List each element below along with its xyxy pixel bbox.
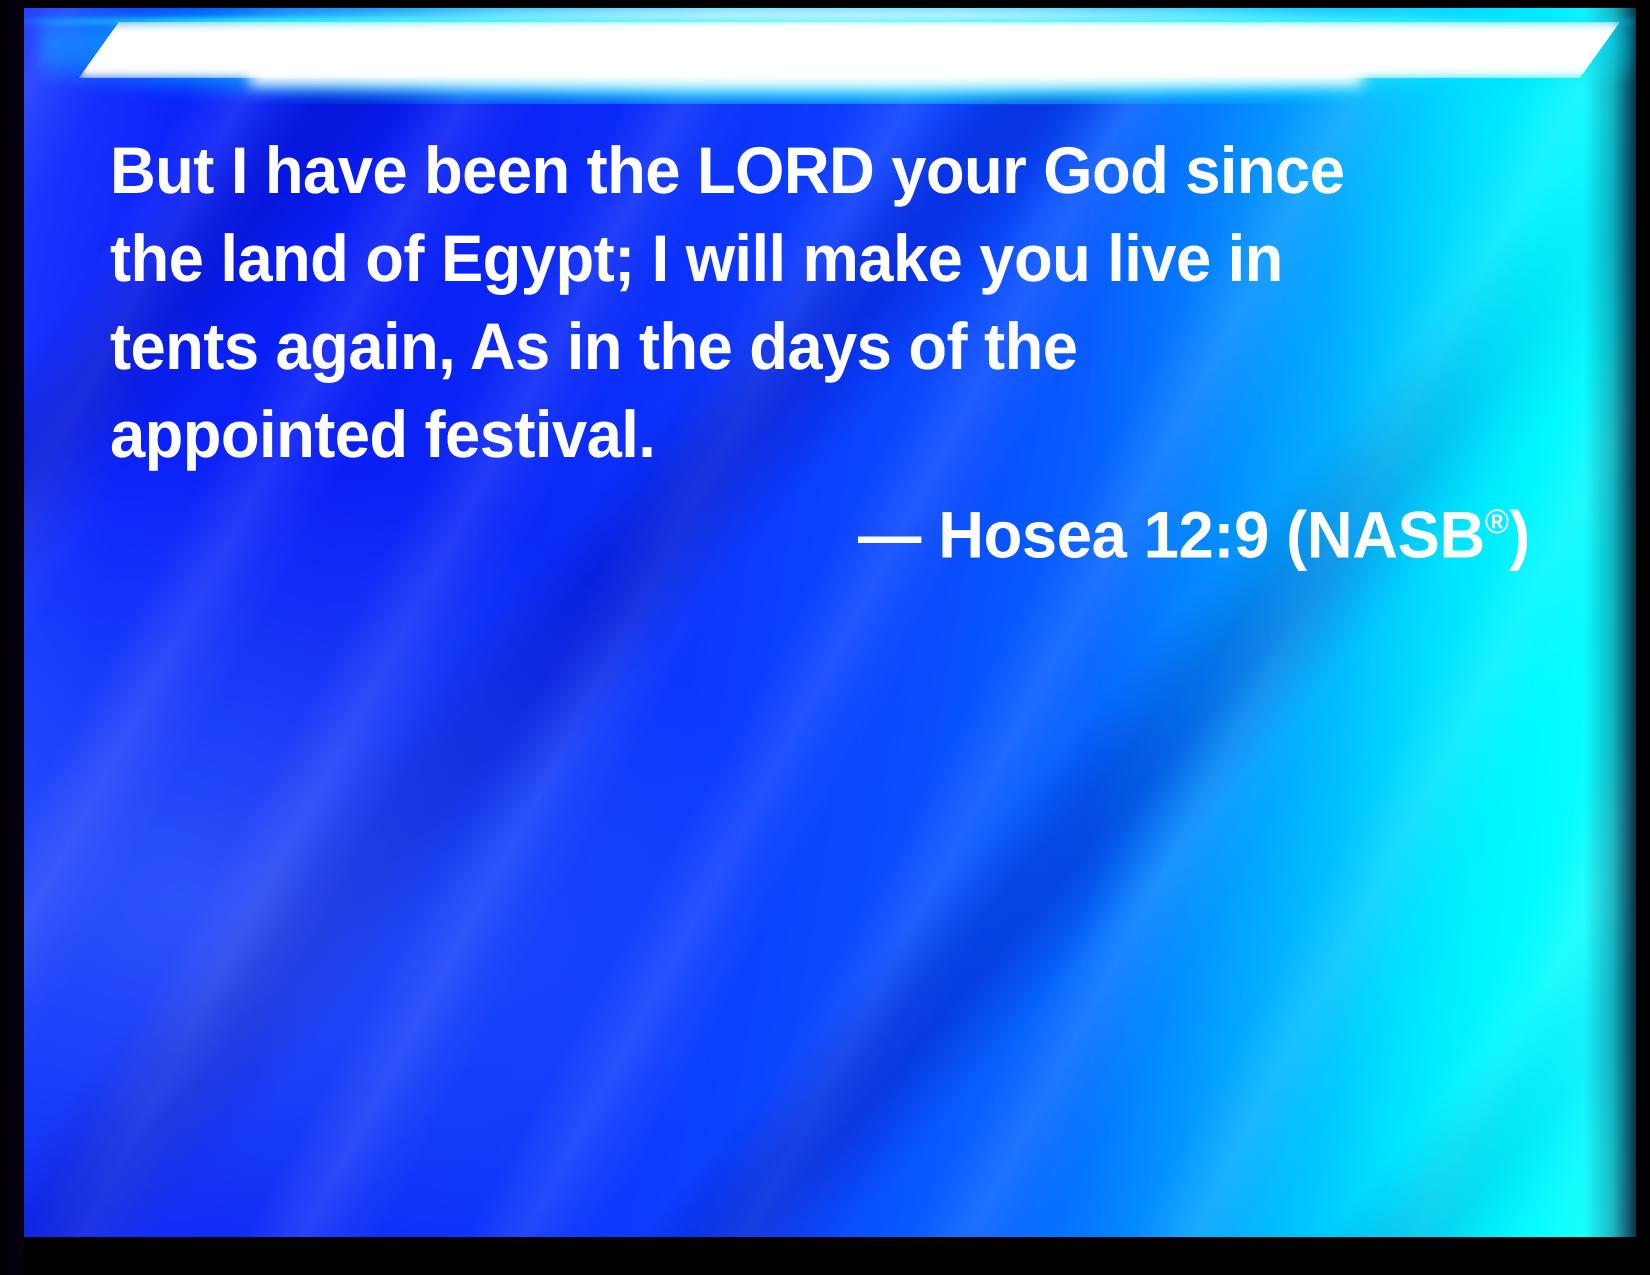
frame-border-top xyxy=(0,0,1650,7)
frame-border-bottom xyxy=(0,1239,1650,1275)
verse-line-2: the land of Egypt; I will make you live … xyxy=(110,214,1473,302)
background-right-shade xyxy=(1584,8,1636,1237)
verse-line-3: tents again, As in the days of the xyxy=(110,302,1473,390)
citation-suffix: ) xyxy=(1509,498,1530,572)
verse-line-4: appointed festival. xyxy=(110,390,1473,478)
frame-border-left xyxy=(0,0,23,1275)
citation-prefix: — Hosea 12:9 (NASB xyxy=(858,498,1485,572)
frame-border-right xyxy=(1637,0,1650,1275)
verse-citation-row: — Hosea 12:9 (NASB®) xyxy=(110,478,1530,579)
slide-artboard: But I have been the LORD your God since … xyxy=(24,8,1636,1237)
registered-trademark-icon: ® xyxy=(1485,503,1509,541)
verse-slide: But I have been the LORD your God since … xyxy=(0,0,1650,1275)
verse-line-1: But I have been the LORD your God since xyxy=(110,126,1473,214)
verse-text-block: But I have been the LORD your God since … xyxy=(110,126,1530,478)
verse-citation: — Hosea 12:9 (NASB®) xyxy=(858,478,1530,579)
